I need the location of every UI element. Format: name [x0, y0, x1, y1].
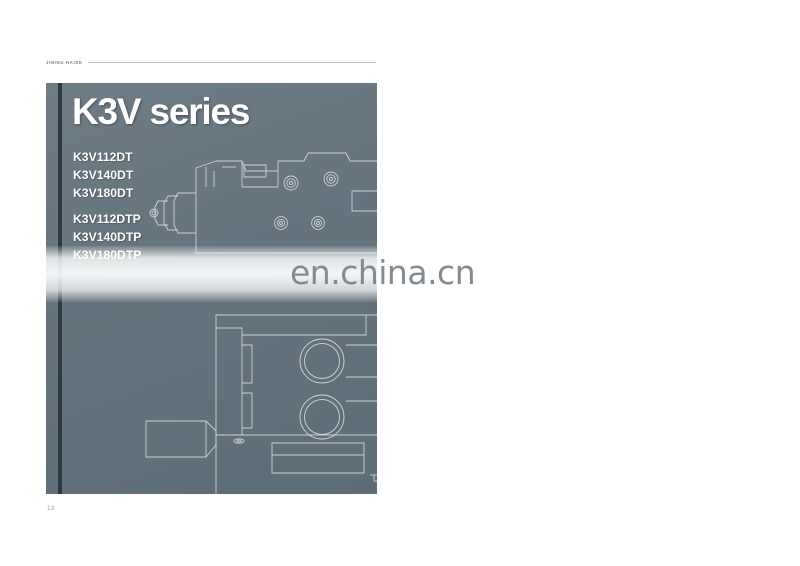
- model-list-gap: [73, 203, 141, 211]
- spread: JINING HAIDE: [0, 0, 800, 566]
- cover-spine: [58, 83, 62, 494]
- running-head-left: JINING HAIDE: [46, 60, 376, 65]
- folio-left: 13: [47, 505, 54, 512]
- model-item: K3V112DT: [73, 149, 141, 167]
- model-item: K3V112DTP: [73, 211, 141, 229]
- cover-panel: K3V series K3V112DT K3V140DT K3V180DT K3…: [46, 83, 377, 494]
- cover-title: K3V series: [72, 93, 249, 132]
- page-left: JINING HAIDE: [0, 0, 400, 566]
- cover-technical-drawing: [46, 83, 377, 494]
- model-item: K3V140DTP: [73, 229, 141, 247]
- running-head-rule: [88, 62, 376, 63]
- catalog-page-spread: JINING HAIDE: [0, 0, 800, 566]
- model-item: K3V180DT: [73, 185, 141, 203]
- running-head-left-label: JINING HAIDE: [46, 60, 83, 65]
- page-right: JINING HAIDE SWASH PLATE TYPE AXIAL PIST…: [400, 0, 800, 566]
- cover-model-list: K3V112DT K3V140DT K3V180DT K3V112DTP K3V…: [73, 149, 141, 265]
- model-item: K3V140DT: [73, 167, 141, 185]
- model-item: K3V180DTP: [73, 247, 141, 265]
